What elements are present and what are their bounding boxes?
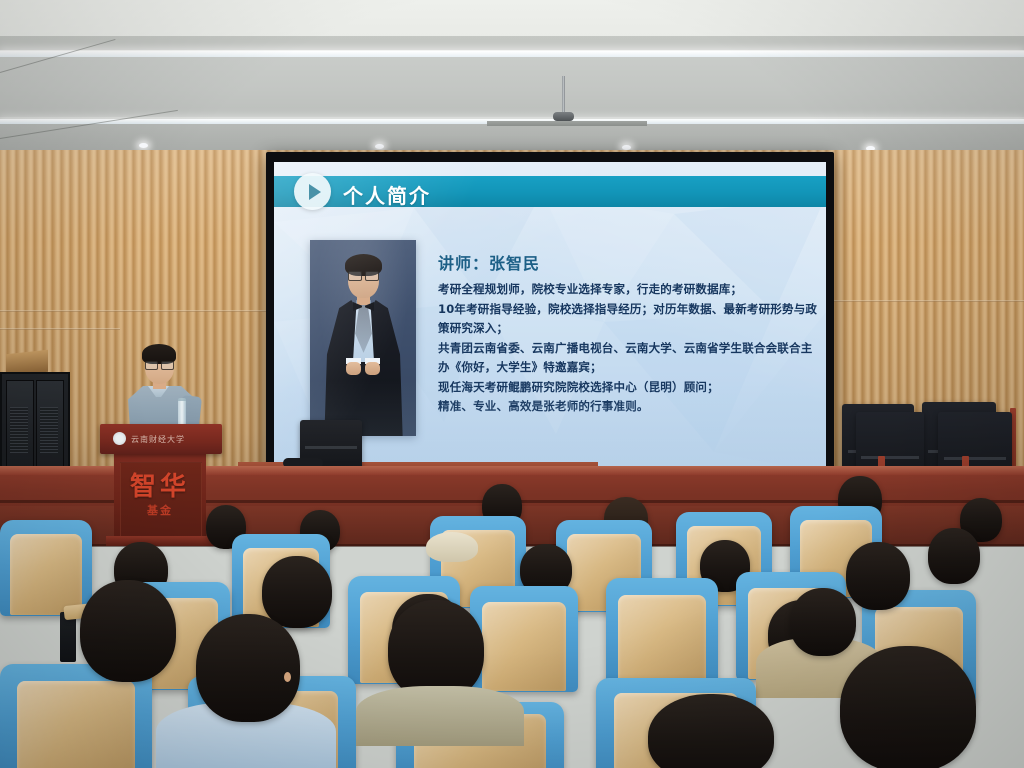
ceiling-band [0,57,1024,117]
audience-head [196,614,300,722]
portrait-hand [365,362,380,375]
bio-line: 共青团云南省委、云南广播电视台、云南大学、云南省学生联合会联合主 [438,339,814,359]
audience-head [388,600,484,700]
lecture-hall-scene: 个人简介 讲师：张智民 考研全程规划师，院校专业选择专家，行走的考研数据库； 1… [0,0,1024,768]
ceiling-downlight [139,143,148,148]
wall-seam [0,328,120,330]
bio-line: 精准、专业、高效是张老师的行事准则。 [438,397,814,417]
vent-grille-icon [40,407,58,453]
bio-line: 现任海天考研鲲鹏研究院院校选择中心（昆明）顾问； [438,378,814,398]
bio-line: 考研全程规划师，院校专业选择专家，行走的考研数据库； [438,280,814,300]
bio-line: 10年考研指导经验，院校选择指导经历；对历年数据、最新考研形势与政 [438,300,814,320]
podium-banner-sub: 基金 [124,502,196,518]
bio-line: 策研究深入； [438,319,814,339]
lectern-podium: 智华 基金 云南财经大学 [100,424,222,542]
glasses-icon [145,361,174,368]
auditorium-seat[interactable] [470,586,578,692]
audience-ear [284,672,291,682]
audience-shoulders [356,686,524,746]
speaker-portrait-photo [310,240,416,436]
play-triangle-icon [294,173,331,210]
slide-bio-text: 考研全程规划师，院校专业选择专家，行走的考研数据库； 10年考研指导经验，院校选… [438,280,814,417]
ceiling-downlight [375,144,384,149]
podium-banner-main: 智华 [124,466,196,503]
ceiling-service-plate [487,121,647,126]
audience-head [80,580,176,682]
slide-title: 个人简介 [343,180,431,209]
wall-seam [834,300,1024,302]
projector-mount-rod [562,76,565,114]
audience-head [928,528,980,584]
portrait-hand [346,362,361,375]
audience-head [648,694,774,768]
slide-speaker-name: 讲师：张智民 [438,250,540,274]
bio-line: 办《你好，大学生》特邀嘉宾； [438,358,814,378]
vent-grille-icon [10,407,28,453]
ceiling-soffit [0,36,1024,50]
presenter [120,344,204,436]
auditorium-seat[interactable] [0,520,92,616]
bow-tie-icon [353,302,374,311]
podium-university-name: 云南财经大学 [131,434,185,445]
audience-head [840,646,976,768]
projector-icon [553,112,574,121]
auditorium-seat[interactable] [606,578,718,688]
wall-seam [0,310,266,312]
glasses-icon [348,271,379,279]
university-crest-icon [113,432,126,445]
audience-cap [426,532,478,562]
